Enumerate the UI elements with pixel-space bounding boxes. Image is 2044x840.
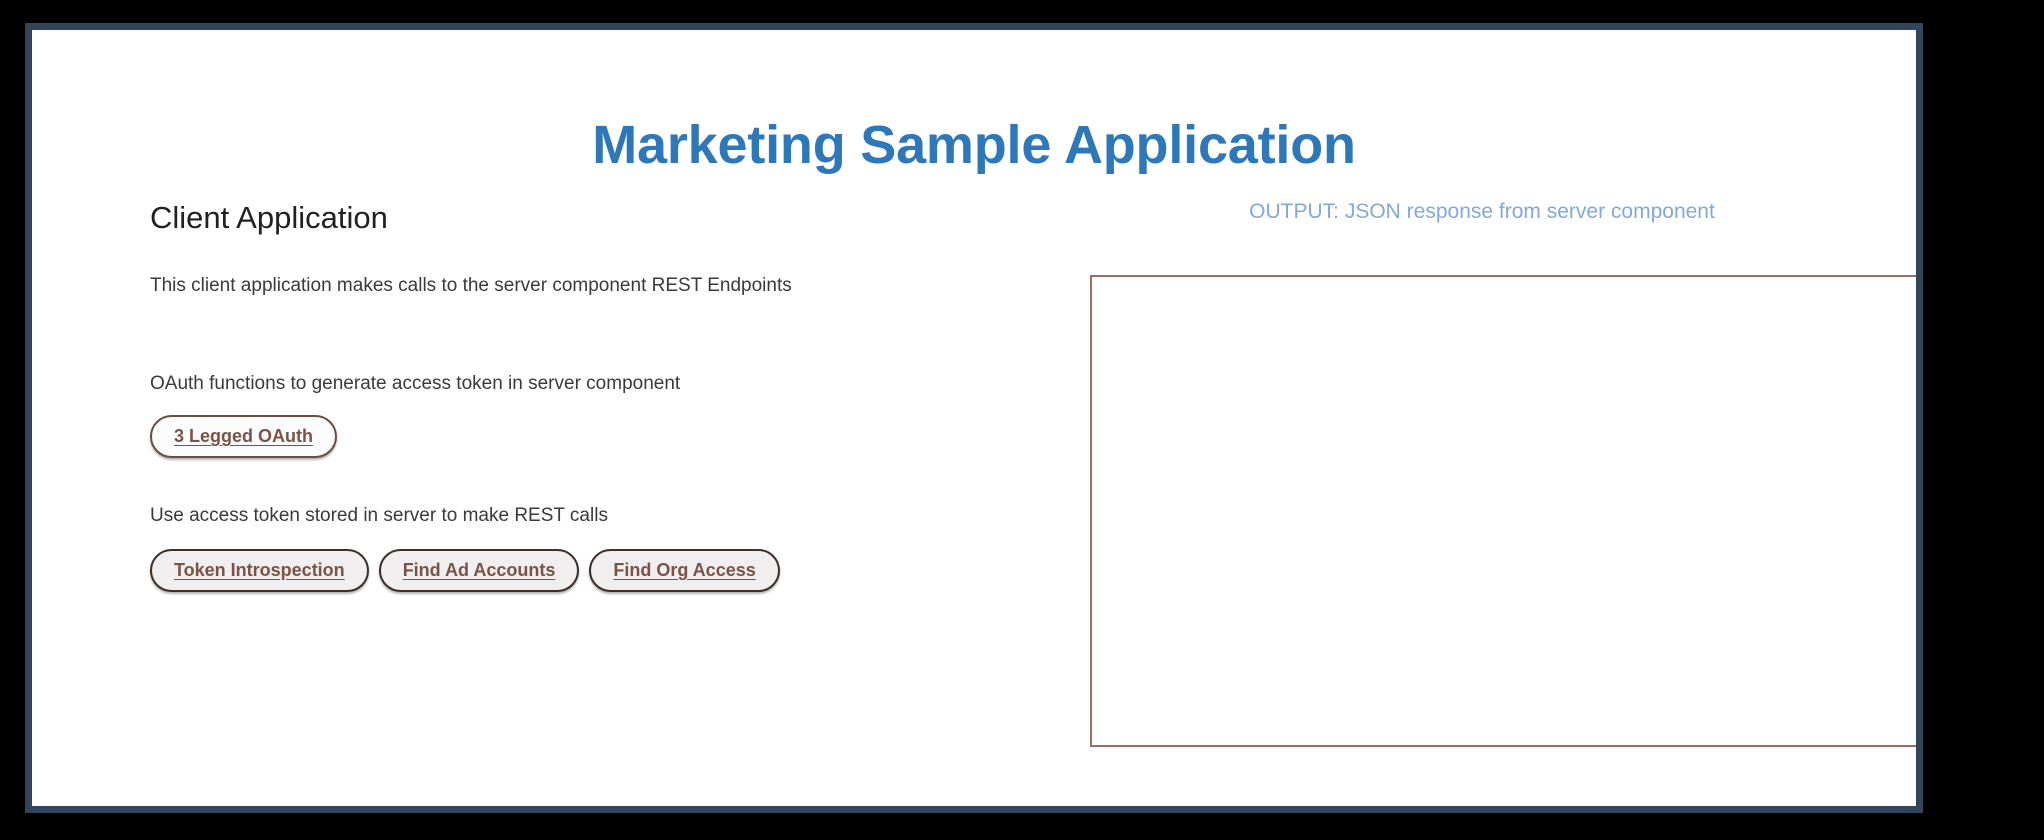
screenshot-viewport: Marketing Sample Application Client Appl… — [0, 0, 2044, 840]
three-legged-oauth-button[interactable]: 3 Legged OAuth — [150, 415, 337, 458]
token-introspection-button-label: Token Introspection — [174, 560, 345, 581]
json-output-area[interactable] — [1090, 275, 1916, 747]
rest-section-description: Use access token stored in server to mak… — [150, 504, 970, 529]
browser-window-frame: Marketing Sample Application Client Appl… — [25, 23, 1923, 813]
client-application-heading: Client Application — [150, 200, 970, 236]
oauth-button-row: 3 Legged OAuth — [150, 415, 970, 458]
oauth-section-description: OAuth functions to generate access token… — [150, 372, 970, 397]
output-panel: OUTPUT: JSON response from server compon… — [1022, 200, 1882, 246]
three-legged-oauth-button-label: 3 Legged OAuth — [174, 426, 313, 447]
find-ad-accounts-button[interactable]: Find Ad Accounts — [379, 549, 580, 592]
page-title: Marketing Sample Application — [32, 114, 1916, 176]
page-canvas: Marketing Sample Application Client Appl… — [32, 30, 1916, 806]
rest-button-row: Token Introspection Find Ad Accounts Fin… — [150, 549, 970, 592]
find-org-access-button-label: Find Org Access — [613, 560, 755, 581]
find-ad-accounts-button-label: Find Ad Accounts — [403, 560, 556, 581]
find-org-access-button[interactable]: Find Org Access — [589, 549, 779, 592]
client-application-panel: Client Application This client applicati… — [150, 200, 970, 592]
output-panel-label: OUTPUT: JSON response from server compon… — [1022, 200, 1882, 224]
client-application-description: This client application makes calls to t… — [150, 274, 970, 299]
token-introspection-button[interactable]: Token Introspection — [150, 549, 369, 592]
